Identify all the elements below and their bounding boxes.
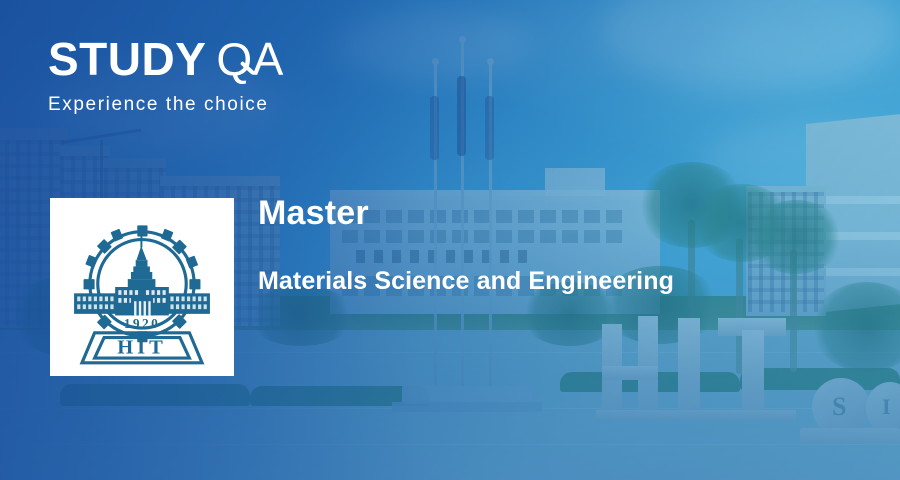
brand-logo[interactable]: STUDY QA [48, 36, 284, 82]
emblem-initials: HIT [117, 336, 167, 358]
banner-content: STUDY QA Experience the choice [0, 0, 900, 480]
university-logo-card: 1920 HIT [50, 198, 234, 376]
emblem-year: 1920 [124, 316, 160, 331]
brand-tagline: Experience the choice [48, 94, 284, 116]
brand-lockup[interactable]: STUDY QA Experience the choice [48, 36, 284, 116]
program-name-title: Materials Science and Engineering [258, 268, 674, 296]
program-headings: Master Materials Science and Engineering [258, 196, 674, 296]
program-banner: S I STUDY QA Experience the choice [0, 0, 900, 480]
degree-level-title: Master [258, 196, 674, 230]
hit-university-emblem: 1920 HIT [63, 208, 221, 366]
brand-name-bold: STUDY [48, 36, 206, 82]
brand-name-light: QA [216, 33, 283, 85]
brand-qa-wrap: QA [216, 36, 283, 82]
